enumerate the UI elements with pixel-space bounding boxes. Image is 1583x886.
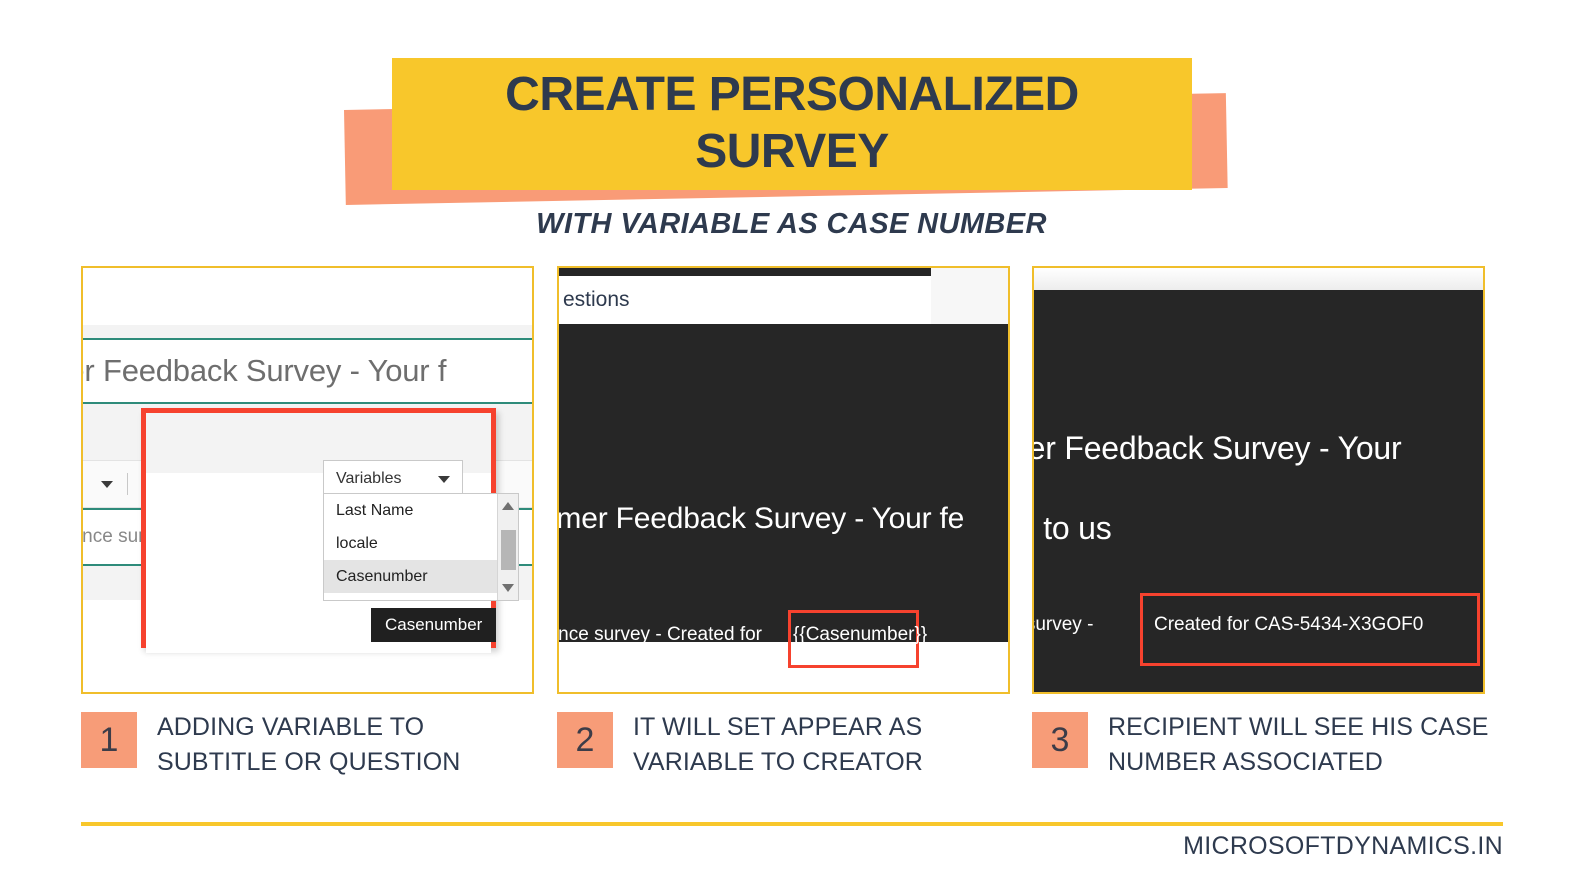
variables-dropdown-list[interactable]: Last Name locale Casenumber xyxy=(323,493,519,601)
header-banner: CREATE PERSONALIZED SURVEY xyxy=(392,58,1192,190)
slide-root: CREATE PERSONALIZED SURVEY WITH VARIABLE… xyxy=(0,0,1583,886)
panel2-survey-title: stomer Feedback Survey - Your fe xyxy=(557,502,964,536)
panel-step-3: ner Feedback Survey - Your le to us e su… xyxy=(1032,266,1485,694)
dropdown-item-last-name[interactable]: Last Name xyxy=(324,494,518,527)
casenumber-tooltip: Casenumber xyxy=(371,608,496,642)
panel2-bottom-white xyxy=(559,642,1010,694)
variables-dropdown-label: Variables xyxy=(336,470,402,488)
step-number-badge-2: 2 xyxy=(557,712,613,768)
panel1-top-blank xyxy=(83,268,532,325)
panel3-recipient-surface: ner Feedback Survey - Your le to us e su… xyxy=(1034,290,1485,694)
panel2-header: estions xyxy=(559,276,931,324)
variables-chevron-down-icon[interactable] xyxy=(438,476,450,483)
screenshot-panels: stomer Feedback Survey - Your f 14px eri… xyxy=(0,266,1583,696)
panel2-header-right-pane xyxy=(931,268,1010,324)
panel3-subtitle-prefix: e survey - xyxy=(1032,614,1093,636)
dropdown-item-casenumber[interactable]: Casenumber xyxy=(324,560,518,593)
caption-step-1: 1 ADDING VARIABLE TO SUBTITLE OR QUESTIO… xyxy=(81,712,541,779)
toolbar-separator xyxy=(127,473,128,495)
dropdown-item-locale[interactable]: locale xyxy=(324,527,518,560)
panel1-grey-strip xyxy=(83,325,532,338)
step-caption-text-3: RECIPIENT WILL SEE HIS CASE NUMBER ASSOC… xyxy=(1108,710,1489,779)
page-subtitle: WITH VARIABLE AS CASE NUMBER xyxy=(0,208,1583,241)
panel2-variable-token: {{Casenumber}} xyxy=(793,624,927,646)
dropdown-scrollbar[interactable] xyxy=(497,494,518,600)
panel2-title-bar xyxy=(559,268,931,276)
panel3-survey-title-line2: le to us xyxy=(1032,510,1112,547)
scroll-up-arrow-icon[interactable] xyxy=(502,502,514,510)
step-number-badge-3: 3 xyxy=(1032,712,1088,768)
panel1-survey-title: stomer Feedback Survey - Your f xyxy=(81,353,446,389)
step-captions: 1 ADDING VARIABLE TO SUBTITLE OR QUESTIO… xyxy=(0,712,1583,794)
panel3-created-for-text: Created for CAS-5434-X3GOF0 xyxy=(1154,614,1423,636)
footer-divider xyxy=(81,822,1503,826)
step-caption-text-2: IT WILL SET APPEAR AS VARIABLE TO CREATO… xyxy=(633,710,923,779)
panel2-preview-surface: stomer Feedback Survey - Your fe ericenc… xyxy=(559,324,1010,642)
panel-step-2: estions stomer Feedback Survey - Your fe… xyxy=(557,266,1010,694)
panel3-browser-chrome xyxy=(1034,268,1485,290)
caption-step-2: 2 IT WILL SET APPEAR AS VARIABLE TO CREA… xyxy=(557,712,1017,779)
caption-step-3: 3 RECIPIENT WILL SEE HIS CASE NUMBER ASS… xyxy=(1032,712,1502,779)
panel1-title-band: stomer Feedback Survey - Your f xyxy=(83,340,532,402)
panel2-tab-label[interactable]: estions xyxy=(563,288,630,312)
chevron-down-icon[interactable] xyxy=(101,481,113,488)
scroll-down-arrow-icon[interactable] xyxy=(502,584,514,592)
footer-site-name: MICROSOFTDYNAMICS.IN xyxy=(0,832,1503,861)
step-caption-text-1: ADDING VARIABLE TO SUBTITLE OR QUESTION xyxy=(157,710,460,779)
panel-step-1: stomer Feedback Survey - Your f 14px eri… xyxy=(81,266,534,694)
scrollbar-thumb[interactable] xyxy=(501,530,516,570)
panel3-survey-title-line1: ner Feedback Survey - Your xyxy=(1032,430,1401,467)
step-number-badge-1: 1 xyxy=(81,712,137,768)
page-title: CREATE PERSONALIZED SURVEY xyxy=(392,67,1192,180)
